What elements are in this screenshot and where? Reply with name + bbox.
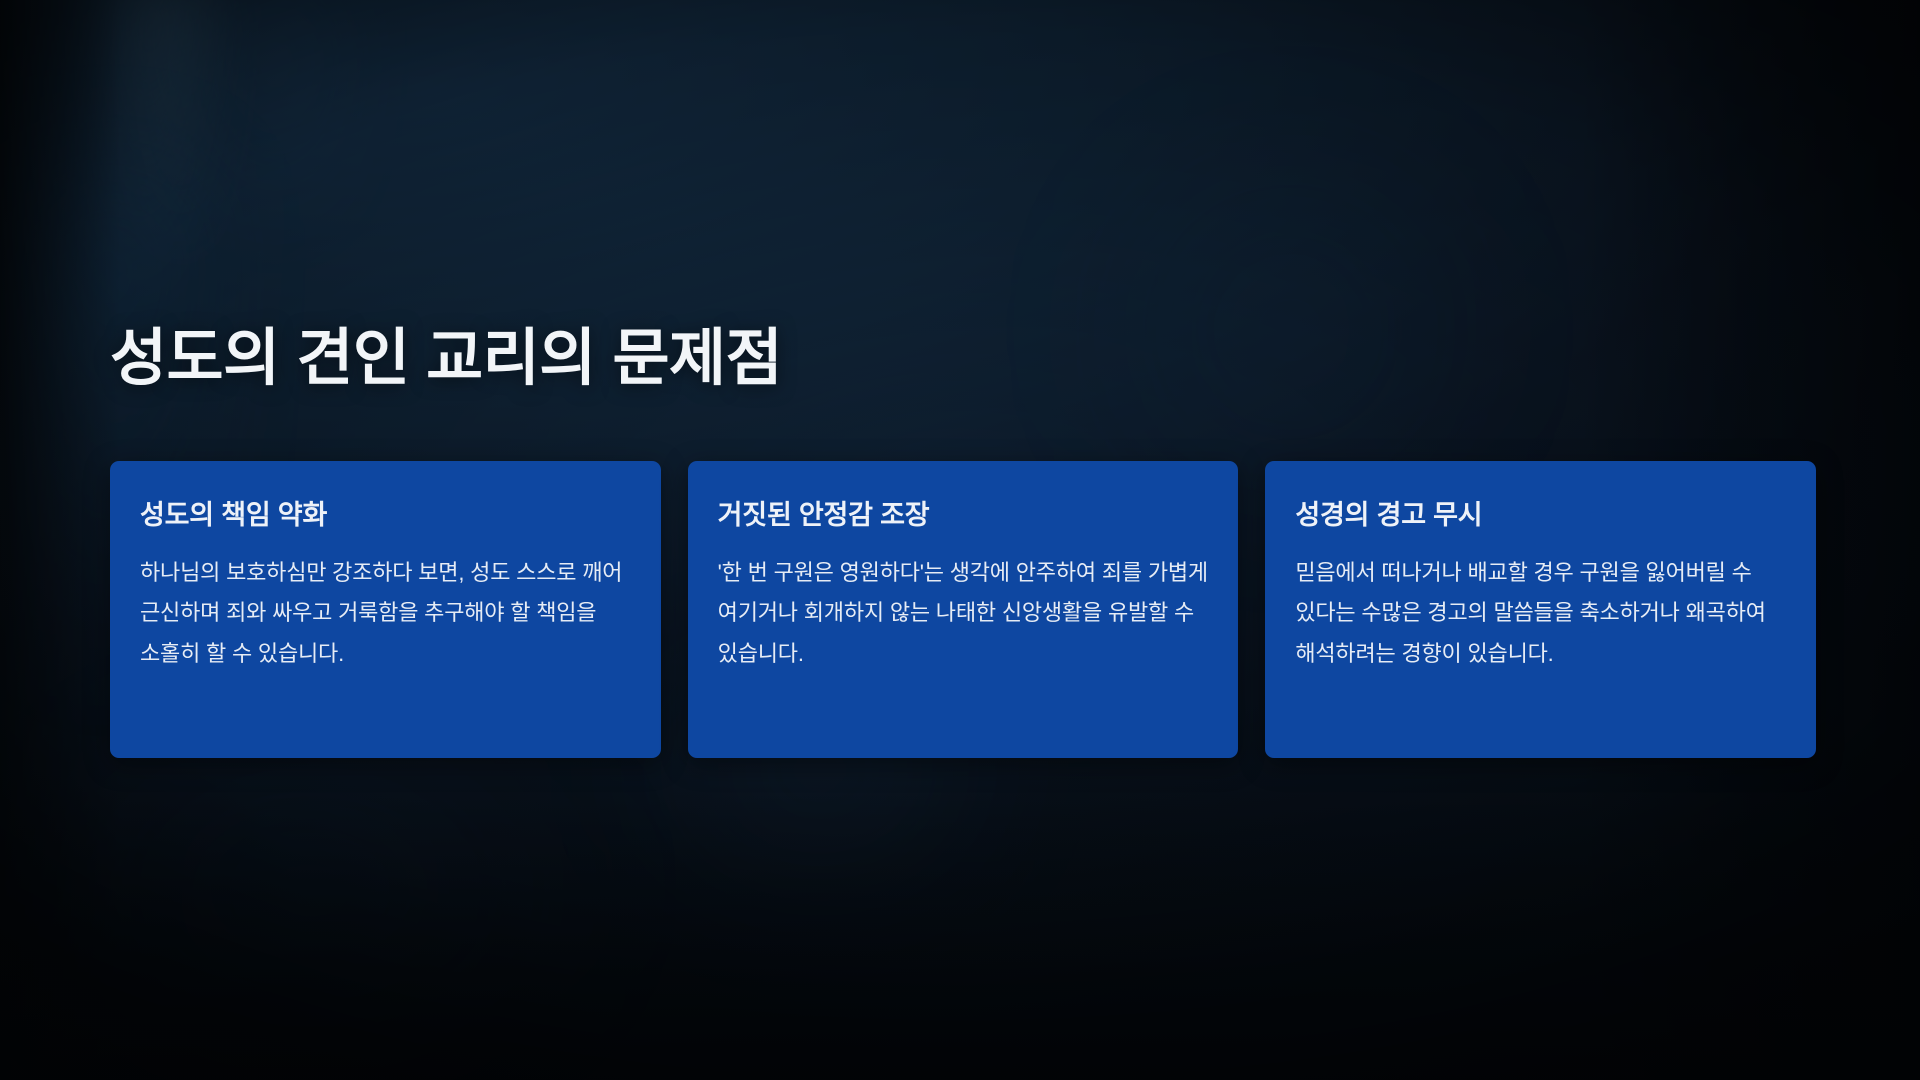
card-item[interactable]: 성경의 경고 무시 믿음에서 떠나거나 배교할 경우 구원을 잃어버릴 수 있다…: [1265, 461, 1816, 758]
slide-content: 성도의 견인 교리의 문제점 성도의 책임 약화 하나님의 보호하심만 강조하다…: [0, 0, 1920, 1080]
card-title: 거짓된 안정감 조장: [718, 493, 1209, 532]
card-item[interactable]: 거짓된 안정감 조장 '한 번 구원은 영원하다'는 생각에 안주하여 죄를 가…: [688, 461, 1239, 758]
card-list: 성도의 책임 약화 하나님의 보호하심만 강조하다 보면, 성도 스스로 깨어 …: [110, 461, 1816, 758]
card-body: 믿음에서 떠나거나 배교할 경우 구원을 잃어버릴 수 있다는 수많은 경고의 …: [1295, 553, 1786, 674]
card-item[interactable]: 성도의 책임 약화 하나님의 보호하심만 강조하다 보면, 성도 스스로 깨어 …: [110, 461, 661, 758]
page-title: 성도의 견인 교리의 문제점: [110, 307, 782, 397]
card-title: 성경의 경고 무시: [1295, 493, 1786, 532]
card-body: 하나님의 보호하심만 강조하다 보면, 성도 스스로 깨어 근신하며 죄와 싸우…: [140, 553, 631, 674]
card-title: 성도의 책임 약화: [140, 493, 631, 532]
card-body: '한 번 구원은 영원하다'는 생각에 안주하여 죄를 가볍게 여기거나 회개하…: [718, 553, 1209, 674]
